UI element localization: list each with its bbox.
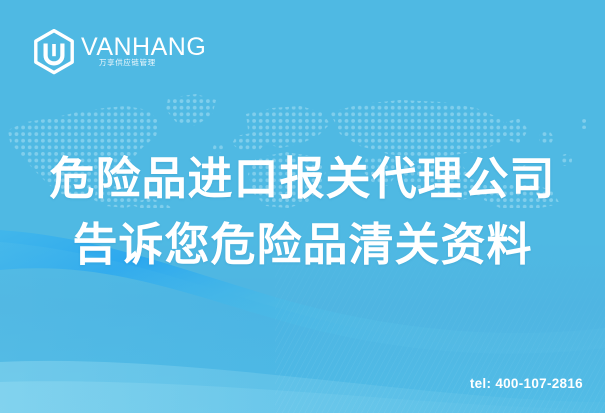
- promotional-banner: VANHANG 万享供应链管理 危险品进口报关代理公司 告诉您危险品清关资料 t…: [0, 0, 605, 413]
- logo-wordmark: VANHANG: [81, 35, 206, 60]
- headline-block: 危险品进口报关代理公司 告诉您危险品清关资料: [0, 146, 605, 278]
- logo-wordmark-group: VANHANG 万享供应链管理: [81, 29, 201, 75]
- logo-subtitle: 万享供应链管理: [99, 59, 156, 67]
- headline-line-1: 危险品进口报关代理公司: [0, 146, 605, 212]
- company-logo[interactable]: VANHANG 万享供应链管理: [33, 29, 201, 75]
- vanhang-hexagon-logo-icon: [33, 29, 75, 75]
- contact-phone[interactable]: tel: 400-107-2816: [470, 376, 583, 391]
- headline-line-2: 告诉您危险品清关资料: [0, 212, 605, 278]
